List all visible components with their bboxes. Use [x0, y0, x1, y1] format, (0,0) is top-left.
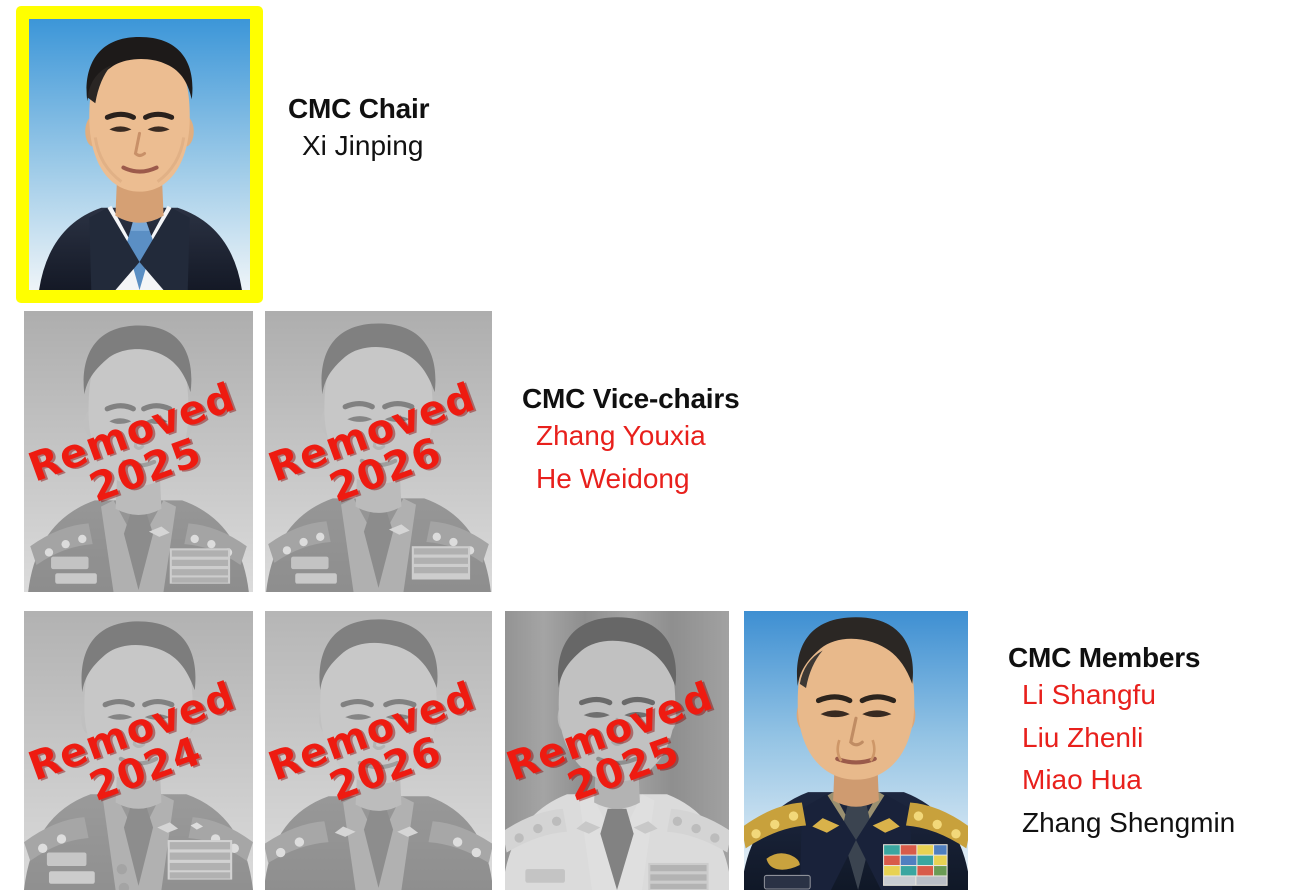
- portrait-zhang-youxia: Removed 2025: [24, 311, 253, 592]
- member-name-xi-jinping: Xi Jinping: [288, 125, 708, 168]
- portrait-image-he-weidong: [265, 311, 492, 592]
- portrait-image-liu-zhenli: [265, 611, 492, 890]
- group-heading-chair: CMC Chair: [288, 92, 708, 125]
- portrait-image-miao-hua: [505, 611, 729, 890]
- label-group-chair: CMC Chair Xi Jinping: [288, 92, 708, 168]
- portrait-image-zhang-shengmin: [744, 611, 968, 890]
- portrait-liu-zhenli: Removed 2026: [265, 611, 492, 890]
- member-name-zhang-shengmin: Zhang Shengmin: [1008, 802, 1298, 845]
- cmc-leadership-chart: CMC Chair Xi Jinping: [0, 0, 1302, 890]
- member-name-he-weidong: He Weidong: [522, 458, 1002, 501]
- portrait-zhang-shengmin: [744, 611, 968, 890]
- member-name-li-shangfu: Li Shangfu: [1008, 674, 1298, 717]
- member-name-liu-zhenli: Liu Zhenli: [1008, 717, 1298, 760]
- portrait-li-shangfu: Removed 2024: [24, 611, 253, 890]
- label-group-vice-chairs: CMC Vice-chairs Zhang Youxia He Weidong: [522, 382, 1002, 500]
- portrait-image-xi-jinping: [29, 19, 250, 290]
- portrait-xi-jinping: [16, 6, 263, 303]
- portrait-miao-hua: Removed 2025: [505, 611, 729, 890]
- portrait-image-li-shangfu: [24, 611, 253, 890]
- member-name-miao-hua: Miao Hua: [1008, 759, 1298, 802]
- portrait-he-weidong: Removed 2026: [265, 311, 492, 592]
- group-heading-vice-chairs: CMC Vice-chairs: [522, 382, 1002, 415]
- group-heading-members: CMC Members: [1008, 641, 1298, 674]
- portrait-inner-frame: [29, 19, 250, 290]
- portrait-image-zhang-youxia: [24, 311, 253, 592]
- label-group-members: CMC Members Li Shangfu Liu Zhenli Miao H…: [1008, 641, 1298, 844]
- member-name-zhang-youxia: Zhang Youxia: [522, 415, 1002, 458]
